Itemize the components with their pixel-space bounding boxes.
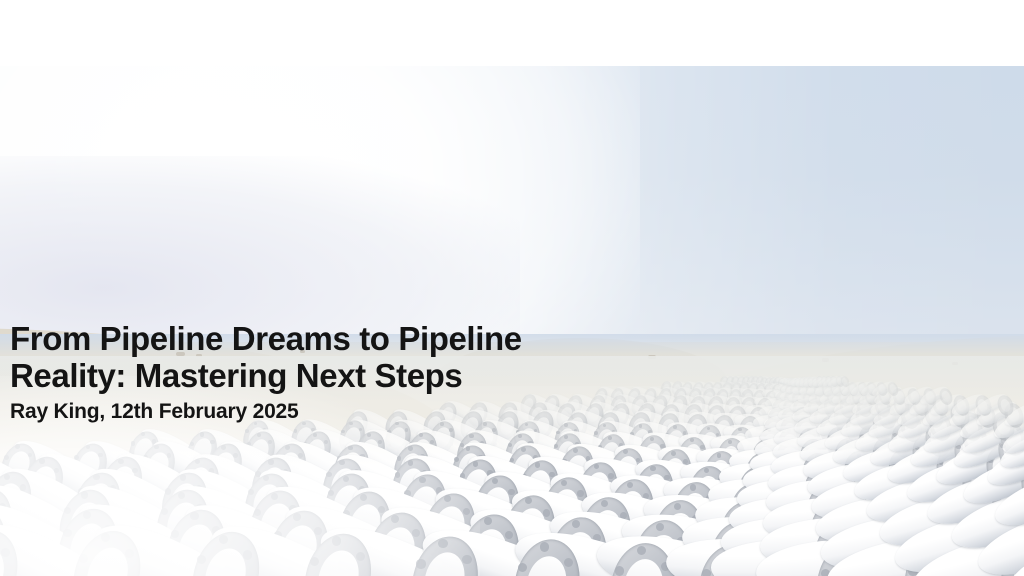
flange-bolt: [416, 559, 425, 568]
flange-bolt: [577, 490, 583, 496]
flange-bolt: [343, 476, 349, 482]
flange-bolt: [391, 515, 399, 523]
flange-bolt: [454, 457, 459, 462]
flange-bolt: [673, 425, 677, 429]
flange-bolt: [81, 491, 88, 498]
flange-bolt: [328, 490, 334, 496]
flange-bolt: [245, 429, 249, 433]
flange-bolt: [492, 428, 496, 432]
flange-bolt: [508, 489, 514, 495]
flange-bolt: [608, 473, 613, 478]
flange-bolt: [378, 440, 382, 444]
flange-bolt: [83, 511, 91, 519]
flange-bolt: [254, 509, 261, 516]
flange-bolt: [462, 555, 471, 564]
flange-bolt: [180, 474, 186, 480]
flange-bolt: [540, 542, 549, 551]
flange-bolt: [257, 433, 261, 437]
flange-bolt: [332, 536, 341, 545]
flange-bolt: [408, 446, 413, 451]
flange-bolt: [405, 428, 409, 432]
flange-bolt: [118, 459, 123, 464]
flange-bolt: [93, 474, 99, 480]
title-slide: From Pipeline Dreams to Pipeline Reality…: [0, 0, 1024, 576]
flange-bolt: [535, 462, 540, 467]
flange-bolt: [210, 440, 214, 444]
flange-bolt: [339, 460, 344, 465]
flange-bolt: [178, 492, 185, 499]
flange-bolt: [650, 466, 655, 471]
flange-bolt: [167, 453, 172, 458]
flange-bolt: [161, 508, 168, 515]
flange-bolt: [594, 431, 598, 435]
flange-bolt: [608, 436, 612, 440]
flange-bolt: [556, 431, 560, 435]
flange-bolt: [190, 512, 198, 520]
flange-bolt: [564, 435, 568, 439]
flange-bolt: [165, 488, 171, 494]
flange-bolt: [39, 458, 44, 463]
flange-bolt: [63, 529, 71, 537]
flange-bolt: [271, 493, 278, 500]
flange-bolt: [268, 459, 273, 464]
flange-bolt: [200, 432, 204, 436]
flange-bolt: [131, 441, 135, 445]
flange-bolt: [419, 477, 425, 483]
flange-bolt: [190, 442, 194, 446]
flange-bolt: [326, 472, 331, 477]
flange-bolt: [449, 428, 453, 432]
flange-bolt: [469, 434, 473, 438]
flange-bolt: [341, 430, 345, 434]
flange-bolt: [268, 440, 272, 444]
flange-bolt: [717, 453, 722, 458]
flange-bolt: [484, 517, 492, 525]
flange-bolt: [408, 460, 413, 465]
flange-bolt: [4, 455, 9, 460]
flange-bolt: [438, 539, 447, 548]
flange-bolt: [690, 484, 696, 490]
flange-bolt: [573, 448, 578, 453]
flange-bolt: [219, 535, 228, 544]
flange-bolt: [702, 569, 711, 576]
flange-bolt: [412, 529, 420, 537]
flange-bolt: [348, 446, 353, 451]
presenter-subtitle: Ray King, 12th February 2025: [10, 400, 710, 424]
flange-bolt: [700, 445, 704, 449]
top-letterbox-band: [0, 0, 1024, 66]
flange-bolt: [521, 447, 526, 452]
flange-bolt: [395, 472, 400, 477]
flange-bolt: [54, 468, 59, 473]
flange-bolt: [221, 445, 226, 450]
flange-bolt: [671, 451, 676, 456]
flange-bolt: [603, 424, 607, 428]
flange-bolt: [243, 550, 252, 559]
title-text-block: From Pipeline Dreams to Pipeline Reality…: [10, 320, 710, 424]
flange-bolt: [324, 440, 328, 444]
flange-bolt: [313, 433, 317, 437]
flange-bolt: [473, 461, 478, 466]
flange-bolt: [543, 509, 550, 516]
flange-bolt: [360, 494, 367, 501]
flange-bolt: [637, 546, 646, 555]
flange-bolt: [615, 566, 624, 575]
flange-bolt: [310, 557, 319, 566]
page-title: From Pipeline Dreams to Pipeline Reality…: [10, 320, 710, 394]
flange-bolt: [233, 453, 238, 458]
flange-bolt: [125, 549, 134, 558]
flange-bolt: [4, 474, 10, 480]
flange-bolt: [463, 508, 470, 515]
flange-bolt: [79, 554, 88, 563]
flange-bolt: [518, 563, 527, 572]
flange-bolt: [674, 503, 681, 510]
flange-bolt: [650, 437, 654, 441]
flange-bolt: [707, 427, 711, 431]
